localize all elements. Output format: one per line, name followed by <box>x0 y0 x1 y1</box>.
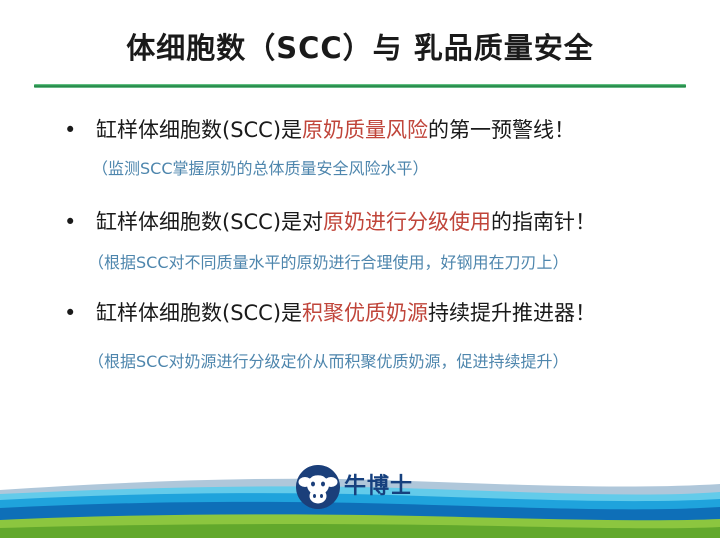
brand-logo: 牛博士 <box>296 463 436 511</box>
list-item: • 缸样体细胞数(SCC)是对原奶进行分级使用的指南针！ （根据SCC对不同质量… <box>0 208 720 274</box>
bullet-line: • 缸样体细胞数(SCC)是原奶质量风险的第一预警线！ <box>0 116 720 146</box>
page-title: 体细胞数（SCC）与 乳品质量安全 <box>0 30 720 66</box>
bullet-marker-icon: • <box>64 299 76 329</box>
bullet-highlight-text: 原奶进行分级使用 <box>323 210 491 234</box>
bullet-highlight-text: 积聚优质奶源 <box>302 301 428 325</box>
list-item: • 缸样体细胞数(SCC)是原奶质量风险的第一预警线！ （监测SCC掌握原奶的总… <box>0 116 720 180</box>
title-divider-rule <box>34 84 686 88</box>
title-block: 体细胞数（SCC）与 乳品质量安全 <box>0 30 720 66</box>
list-item: • 缸样体细胞数(SCC)是积聚优质奶源持续提升推进器！ （根据SCC对奶源进行… <box>0 299 720 373</box>
bullet-line: • 缸样体细胞数(SCC)是积聚优质奶源持续提升推进器！ <box>0 299 720 329</box>
bullet-lead-text: 缸样体细胞数(SCC)是对 <box>96 210 323 234</box>
bullet-tail-text: 的指南针！ <box>491 210 596 234</box>
brand-logo-text: 牛博士 <box>344 476 413 498</box>
slide-canvas: 体细胞数（SCC）与 乳品质量安全 • 缸样体细胞数(SCC)是原奶质量风险的第… <box>0 0 720 538</box>
bullet-lead-text: 缸样体细胞数(SCC)是 <box>96 118 302 142</box>
bullet-list: • 缸样体细胞数(SCC)是原奶质量风险的第一预警线！ （监测SCC掌握原奶的总… <box>0 116 720 374</box>
bullet-subnote: （根据SCC对奶源进行分级定价从而积聚优质奶源，促进持续提升） <box>0 351 720 373</box>
bullet-line: • 缸样体细胞数(SCC)是对原奶进行分级使用的指南针！ <box>0 208 720 238</box>
bullet-highlight-text: 原奶质量风险 <box>302 118 428 142</box>
bullet-marker-icon: • <box>64 208 76 238</box>
bullet-tail-text: 持续提升推进器！ <box>428 301 596 325</box>
bullet-tail-text: 的第一预警线！ <box>428 118 575 142</box>
bullet-subnote: （根据SCC对不同质量水平的原奶进行合理使用，好钢用在刀刃上） <box>0 252 720 274</box>
bullet-marker-icon: • <box>64 116 76 146</box>
cow-head-icon <box>296 465 340 509</box>
bullet-subnote: （监测SCC掌握原奶的总体质量安全风险水平） <box>0 158 720 180</box>
bullet-lead-text: 缸样体细胞数(SCC)是 <box>96 301 302 325</box>
